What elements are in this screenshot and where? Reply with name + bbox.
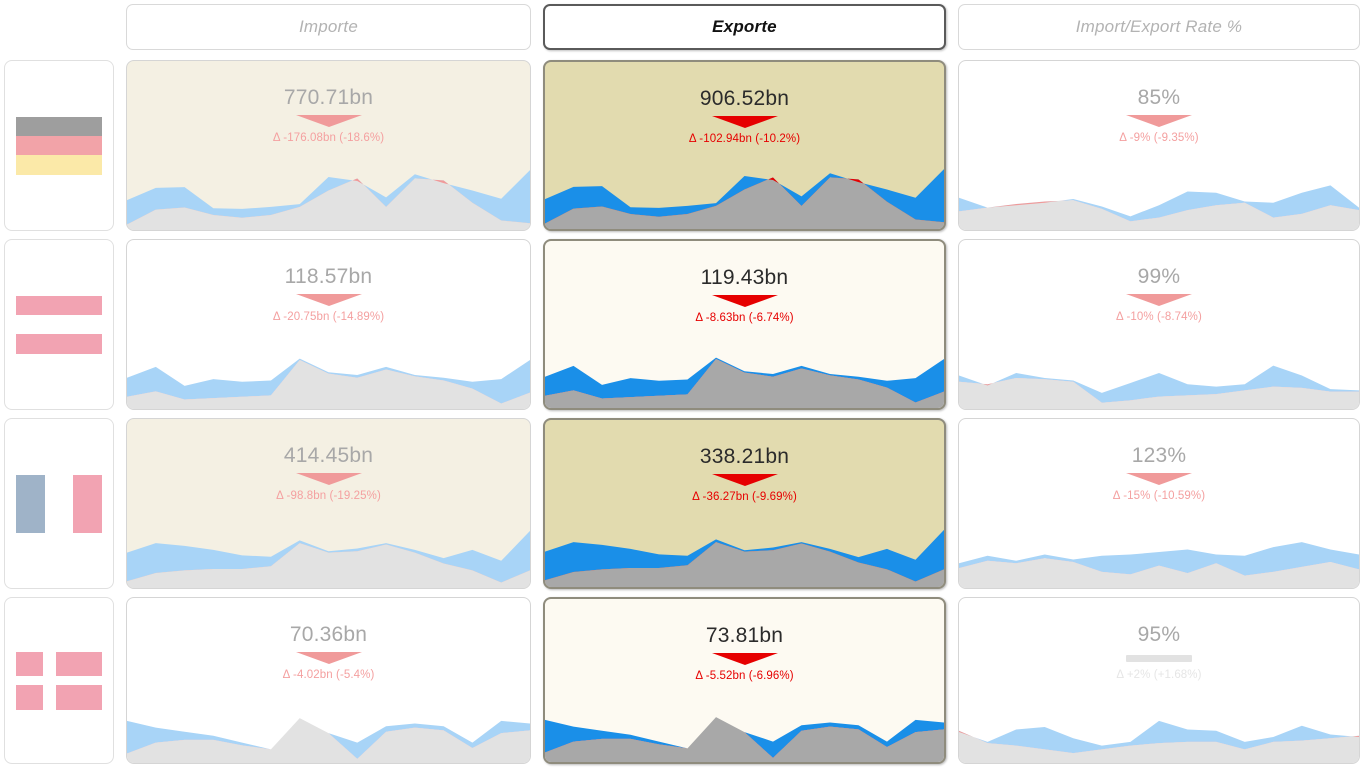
sparkline-chart [545, 694, 944, 762]
flag-band [16, 155, 102, 174]
delta-label: Δ -36.27bn (-9.69%) [692, 491, 797, 503]
metric-value: 85% [1138, 87, 1181, 109]
country-flag-cell-denmark[interactable] [4, 597, 114, 764]
sparkline-chart [959, 347, 1359, 409]
metric-cell-denmark-rate[interactable]: 95%Δ +2% (+1.68%) [958, 597, 1360, 764]
trend-down-icon [296, 652, 362, 664]
metric-cell-austria-exporte[interactable]: 119.43bnΔ -8.63bn (-6.74%) [543, 239, 946, 410]
comparison-grid: ImporteExporteImport/Export Rate %770.71… [0, 0, 1366, 768]
flag-austria-icon [16, 296, 102, 354]
trend-shape [1126, 294, 1192, 306]
metric-cell-france-exporte[interactable]: 338.21bnΔ -36.27bn (-9.69%) [543, 418, 946, 589]
trend-shape [1126, 655, 1192, 662]
flag-france-icon [16, 475, 102, 533]
country-flag-cell-france[interactable] [4, 418, 114, 589]
trend-shape [1126, 115, 1192, 127]
metric-cell-germany-importe[interactable]: 770.71bnΔ -176.08bn (-18.6%) [126, 60, 531, 231]
country-flag-cell-germany[interactable] [4, 60, 114, 231]
delta-label: Δ -9% (-9.35%) [1119, 132, 1198, 144]
trend-shape [296, 473, 362, 485]
metric-value: 123% [1132, 445, 1187, 467]
metric-value: 414.45bn [284, 445, 373, 467]
column-header-importe[interactable]: Importe [126, 4, 531, 50]
trend-shape [712, 474, 778, 486]
header-spacer [0, 0, 120, 56]
trend-shape [712, 295, 778, 307]
metric-cell-germany-rate[interactable]: 85%Δ -9% (-9.35%) [958, 60, 1360, 231]
metric-cell-denmark-importe[interactable]: 70.36bnΔ -4.02bn (-5.4%) [126, 597, 531, 764]
flag-band [16, 334, 102, 353]
delta-label: Δ -15% (-10.59%) [1113, 490, 1205, 502]
trend-shape [296, 115, 362, 127]
metric-value: 70.36bn [290, 624, 367, 646]
sparkline-chart [127, 520, 530, 588]
flag-band [16, 136, 102, 155]
trend-down-icon [296, 473, 362, 485]
metric-cell-denmark-exporte[interactable]: 73.81bnΔ -5.52bn (-6.96%) [543, 597, 946, 764]
trend-shape [1126, 473, 1192, 485]
flag-band [16, 296, 102, 315]
column-header-rate[interactable]: Import/Export Rate % [958, 4, 1360, 50]
sparkline-chart [127, 162, 530, 230]
metric-cell-germany-exporte[interactable]: 906.52bnΔ -102.94bn (-10.2%) [543, 60, 946, 231]
delta-label: Δ -8.63bn (-6.74%) [695, 312, 793, 324]
sparkline-chart [959, 526, 1359, 588]
delta-label: Δ -98.8bn (-19.25%) [276, 490, 381, 502]
flag-germany-icon [16, 117, 102, 175]
trend-shape [296, 652, 362, 664]
sparkline-chart [127, 695, 530, 763]
delta-label: Δ -102.94bn (-10.2%) [689, 133, 800, 145]
flag-band [16, 315, 102, 334]
delta-label: Δ -20.75bn (-14.89%) [273, 311, 384, 323]
flag-band [16, 117, 102, 136]
trend-down-icon [712, 653, 778, 665]
trend-shape [712, 653, 778, 665]
sparkline-chart [959, 168, 1359, 230]
country-flag-cell-austria[interactable] [4, 239, 114, 410]
sparkline-chart [959, 701, 1359, 763]
sparkline-chart [545, 340, 944, 408]
delta-label: Δ -4.02bn (-5.4%) [283, 669, 375, 681]
trend-down-icon [1126, 294, 1192, 306]
metric-cell-austria-rate[interactable]: 99%Δ -10% (-8.74%) [958, 239, 1360, 410]
metric-cell-france-rate[interactable]: 123%Δ -15% (-10.59%) [958, 418, 1360, 589]
flag-cross-horizontal [16, 676, 102, 685]
column-header-exporte[interactable]: Exporte [543, 4, 946, 50]
delta-label: Δ -5.52bn (-6.96%) [695, 670, 793, 682]
metric-cell-austria-importe[interactable]: 118.57bnΔ -20.75bn (-14.89%) [126, 239, 531, 410]
flag-denmark-icon [16, 652, 102, 710]
metric-value: 906.52bn [700, 88, 789, 110]
trend-down-icon [712, 116, 778, 128]
metric-cell-france-importe[interactable]: 414.45bnΔ -98.8bn (-19.25%) [126, 418, 531, 589]
trend-down-icon [1126, 115, 1192, 127]
metric-value: 338.21bn [700, 446, 789, 468]
metric-value: 770.71bn [284, 87, 373, 109]
metric-value: 119.43bn [701, 267, 789, 289]
flag-band [45, 475, 74, 533]
flag-band [73, 475, 102, 533]
metric-value: 118.57bn [285, 266, 373, 288]
metric-value: 95% [1138, 624, 1181, 646]
metric-value: 73.81bn [706, 625, 783, 647]
trend-flat-icon [1126, 652, 1192, 664]
delta-label: Δ -10% (-8.74%) [1116, 311, 1202, 323]
sparkline-chart [545, 519, 944, 587]
sparkline-chart [127, 341, 530, 409]
delta-label: Δ +2% (+1.68%) [1116, 669, 1201, 681]
trend-down-icon [296, 115, 362, 127]
trend-shape [712, 116, 778, 128]
delta-label: Δ -176.08bn (-18.6%) [273, 132, 384, 144]
trend-down-icon [1126, 473, 1192, 485]
sparkline-chart [545, 161, 944, 229]
metric-value: 99% [1138, 266, 1181, 288]
flag-band [16, 475, 45, 533]
trend-down-icon [296, 294, 362, 306]
trend-down-icon [712, 474, 778, 486]
trend-down-icon [712, 295, 778, 307]
trend-shape [296, 294, 362, 306]
